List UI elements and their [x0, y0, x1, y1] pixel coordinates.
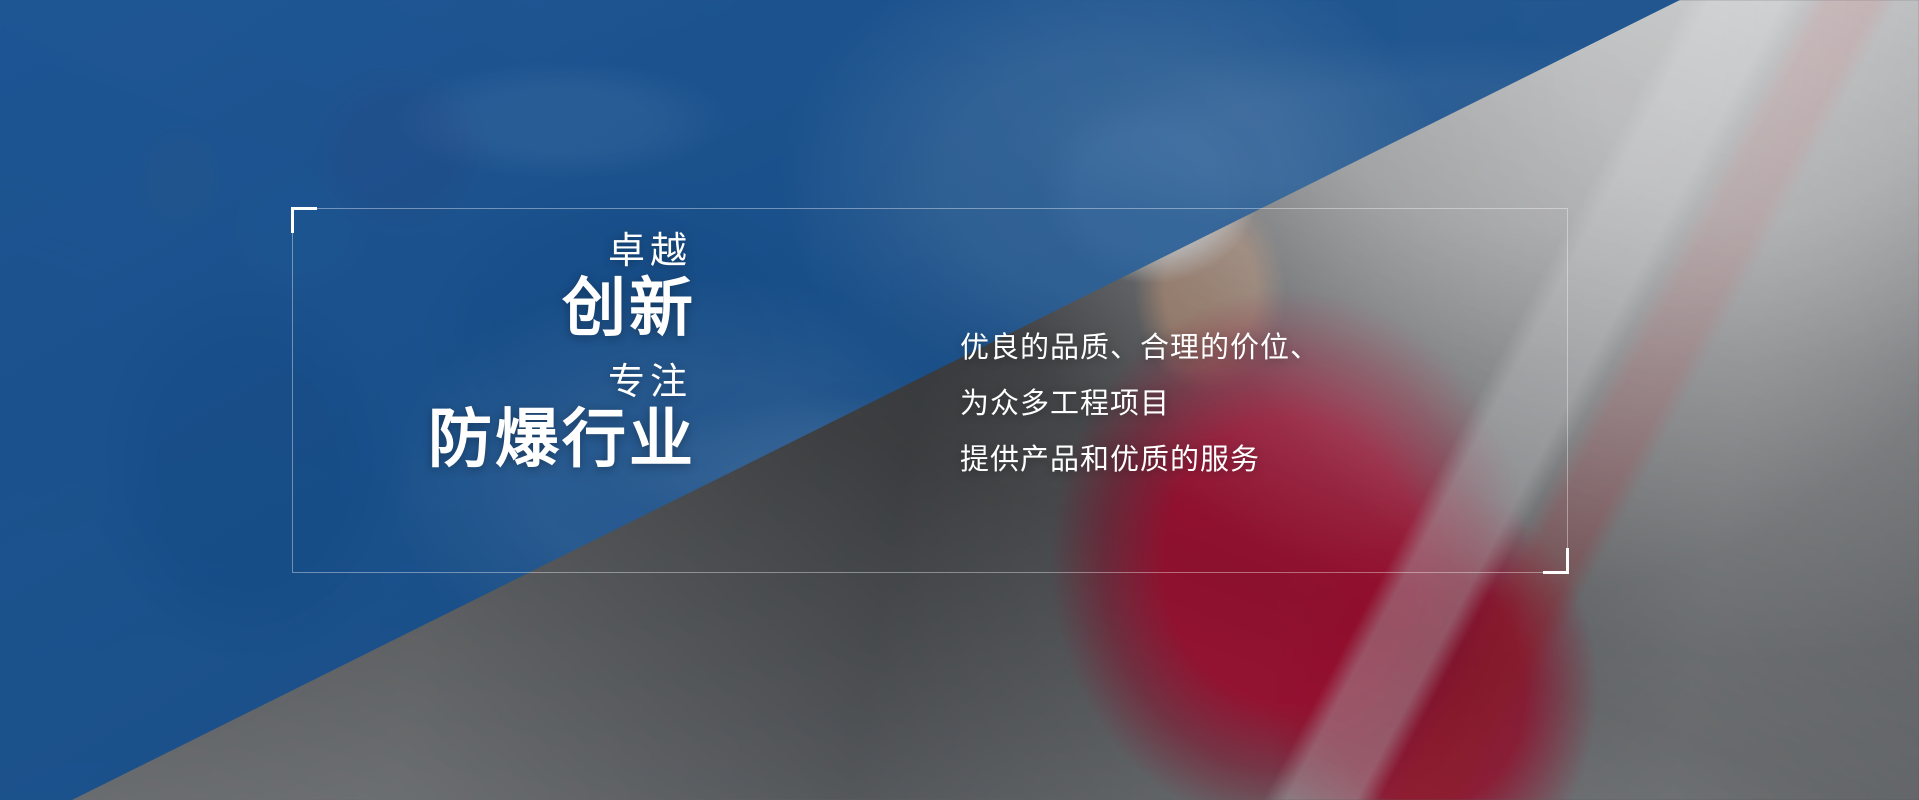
headline-spacer	[300, 345, 700, 359]
tagline-line-1: 优良的品质、合理的价位、	[960, 320, 1320, 376]
hero-banner: 卓越 创新 专注 防爆行业 优良的品质、合理的价位、 为众多工程项目 提供产品和…	[0, 0, 1919, 800]
tagline-block: 优良的品质、合理的价位、 为众多工程项目 提供产品和优质的服务	[960, 320, 1320, 488]
headline-line-4: 防爆行业	[300, 404, 700, 476]
headline-line-3: 专注	[300, 359, 700, 404]
headline-line-1: 卓越	[300, 228, 700, 273]
tagline-line-3: 提供产品和优质的服务	[960, 432, 1320, 488]
tagline-line-2: 为众多工程项目	[960, 376, 1320, 432]
headline-line-2: 创新	[300, 273, 700, 345]
headline-block: 卓越 创新 专注 防爆行业	[300, 228, 700, 476]
